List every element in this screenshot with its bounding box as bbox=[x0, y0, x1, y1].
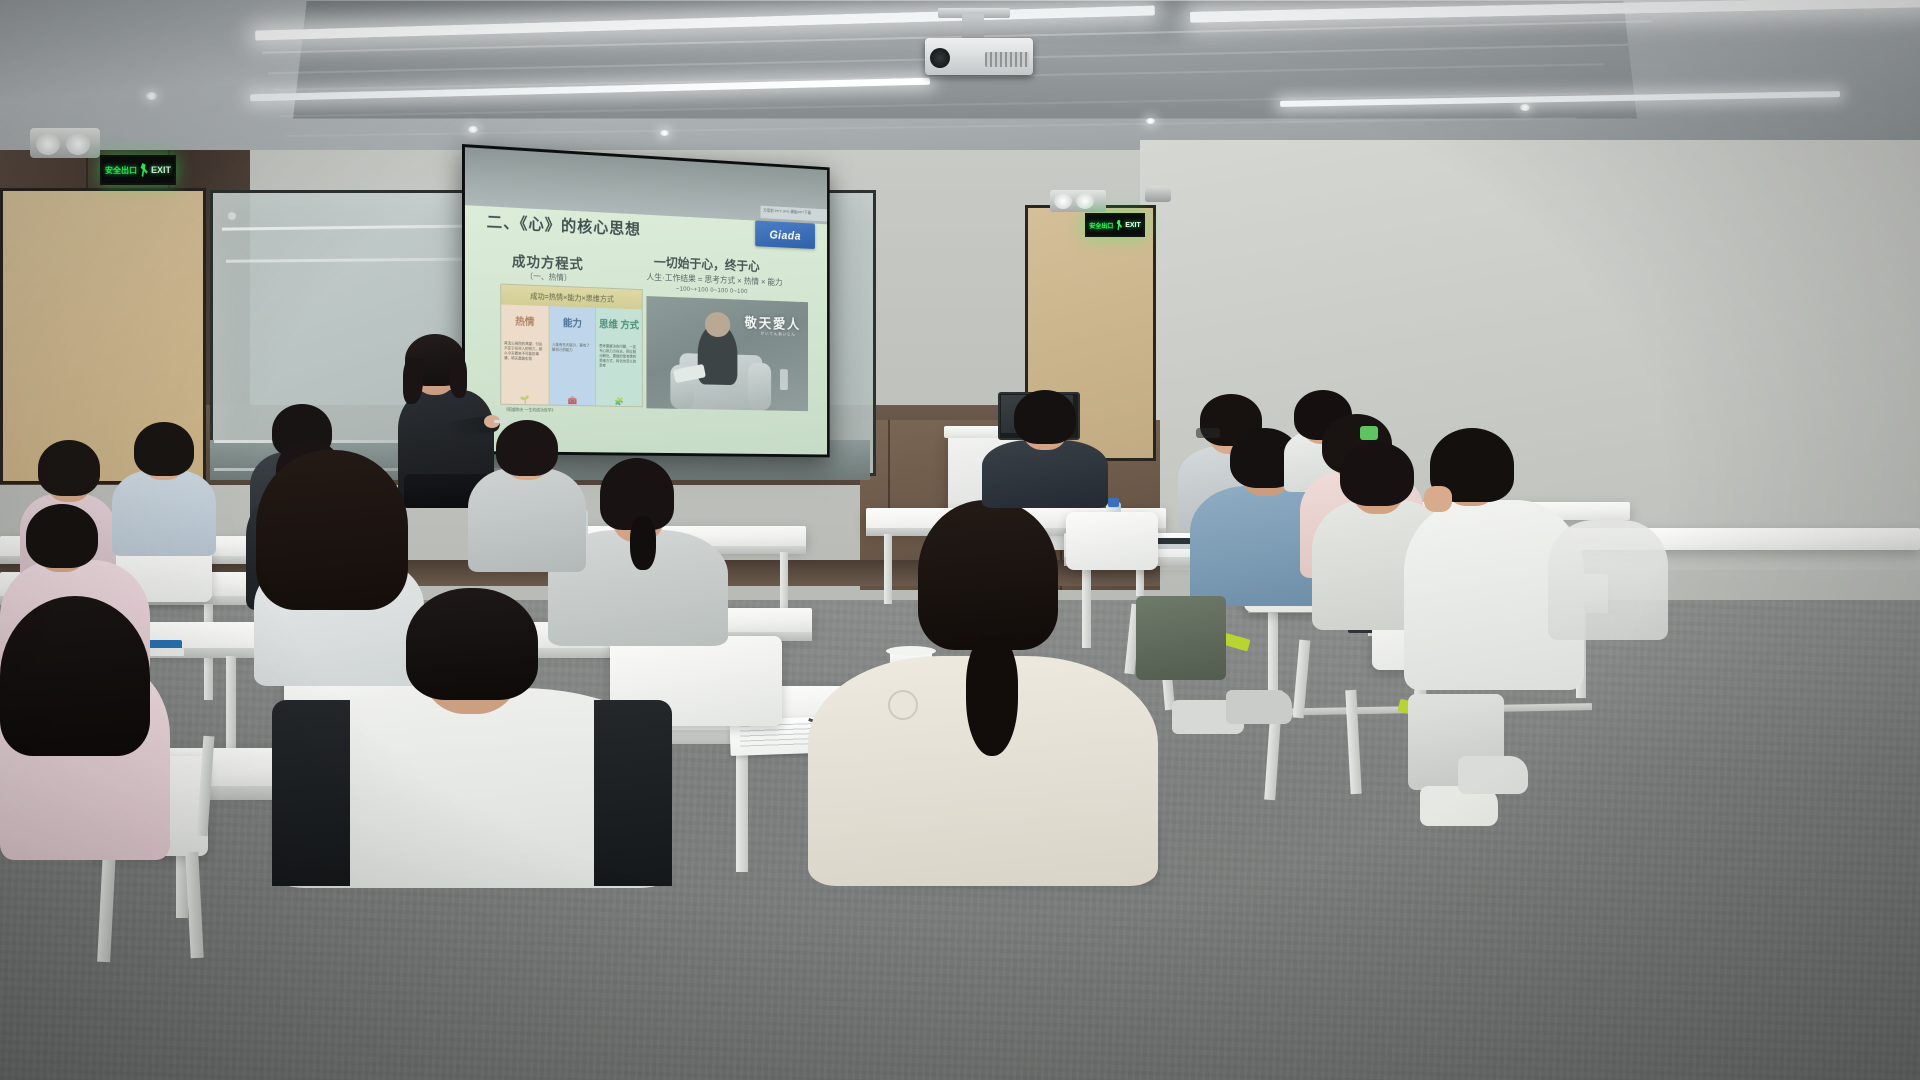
attendee-body bbox=[112, 470, 216, 556]
toolbox-icon: 🧰 bbox=[549, 389, 595, 406]
downlight bbox=[1520, 104, 1530, 111]
shoe bbox=[1458, 756, 1528, 794]
projection-screen: 方案前 PPT-JPG 模板PPT下载 轻松下载页 二、《心》的核心思想 Gia… bbox=[462, 144, 860, 454]
instructor-hair-side bbox=[449, 356, 467, 398]
column-body-text: 人既有先天能力，更有了解自己的能力 bbox=[549, 340, 595, 390]
exit-sign-label-cn: 安全出口 bbox=[105, 165, 137, 176]
emergency-lamp-bulb bbox=[1076, 193, 1094, 209]
cup-lid bbox=[886, 646, 936, 656]
desk-leg bbox=[736, 742, 748, 872]
attendee-hair bbox=[38, 440, 100, 496]
emergency-lamp-bulb bbox=[36, 133, 60, 155]
column-label: 能力 bbox=[549, 306, 595, 341]
sprout-icon: 🌱 bbox=[501, 388, 548, 405]
success-equation-table: 成功=热情×能力×思维方式 热情 再怎么强烈的渴望，付出不亚于任何人的努力，那么… bbox=[500, 284, 642, 408]
attendee-hair bbox=[26, 504, 98, 568]
hair-clip bbox=[1360, 426, 1378, 440]
bottle-cap bbox=[1108, 498, 1119, 507]
attendee-hair bbox=[1340, 442, 1414, 506]
downlight bbox=[468, 126, 478, 133]
giada-brand-logo: Giada bbox=[755, 221, 815, 249]
attendee-hair bbox=[1014, 390, 1076, 444]
attendee-body bbox=[1548, 520, 1668, 640]
attendee-ponytail bbox=[966, 636, 1018, 756]
exit-sign-label-en: EXIT bbox=[151, 165, 171, 175]
screen-frame: 方案前 PPT-JPG 模板PPT下载 轻松下载页 二、《心》的核心思想 Gia… bbox=[462, 144, 830, 457]
attendee-hair bbox=[0, 596, 150, 756]
portrait-head bbox=[705, 312, 730, 338]
attendee-sleeve bbox=[594, 700, 672, 886]
instructor-hair-side bbox=[403, 358, 423, 404]
table-column-passion: 热情 再怎么强烈的渴望，付出不亚于任何人的努力，那么今天看来不可能的事情，明天是… bbox=[501, 304, 549, 404]
projected-slide: 方案前 PPT-JPG 模板PPT下载 轻松下载页 二、《心》的核心思想 Gia… bbox=[465, 147, 827, 454]
exit-sign-left: 安全出口 EXIT bbox=[100, 155, 176, 185]
giada-logo-text: Giada bbox=[769, 227, 801, 242]
column-label: 思维 方式 bbox=[596, 308, 641, 343]
downlight bbox=[146, 92, 157, 100]
desk-leg bbox=[226, 656, 236, 756]
emergency-lamp-bulb bbox=[1054, 193, 1072, 209]
equation-subheading: 〔一、热情〕 bbox=[525, 271, 571, 284]
attendee-hair bbox=[256, 450, 408, 610]
attendee-hand bbox=[1424, 486, 1452, 512]
training-room-photo: 安全出口 EXIT 安全出口 EXIT 方案前 PPT-JPG 模板PPT下载 … bbox=[0, 0, 1920, 1080]
projector-vent bbox=[985, 52, 1029, 67]
attendee-ponytail bbox=[630, 516, 656, 570]
running-man-icon bbox=[140, 163, 148, 177]
attendee-body bbox=[982, 440, 1108, 508]
attendee-hair bbox=[918, 500, 1058, 650]
attendee-sleeve bbox=[272, 700, 350, 886]
exit-sign-right: 安全出口 EXIT bbox=[1085, 213, 1145, 237]
armchair-arm bbox=[748, 363, 771, 411]
chair[interactable] bbox=[1066, 512, 1158, 570]
portrait-motto-subtext: けいてんあいじん bbox=[761, 331, 796, 338]
table-column-ability: 能力 人既有先天能力，更有了解自己的能力 🧰 bbox=[549, 306, 596, 405]
cctv-camera-icon bbox=[1145, 186, 1171, 202]
table-column-mindset: 思维 方式 思考要解决的问题，一定专心致力方向去，把过程分解化。要做的是有情的思… bbox=[596, 308, 641, 406]
downlight bbox=[660, 130, 669, 136]
column-body-text: 再怎么强烈的渴望，付出不亚于任何人的努力，那么今天看来不可能的事情，明天是能实现 bbox=[501, 338, 548, 389]
exit-sign-label-en: EXIT bbox=[1125, 222, 1141, 229]
eyeglasses bbox=[1196, 428, 1220, 438]
slide-footnote: 《稻盛和夫 一生的成功哲学》 bbox=[504, 407, 555, 414]
attendee-trousers bbox=[1136, 596, 1226, 680]
jacket-button bbox=[888, 690, 918, 720]
column-body-text: 思考要解决的问题，一定专心致力方向去，把过程分解化。要做的是有情的思维方式，转化… bbox=[596, 341, 641, 391]
puzzle-icon: 🧩 bbox=[596, 390, 641, 406]
presentation-clicker[interactable] bbox=[494, 420, 508, 423]
downlight bbox=[1146, 118, 1155, 124]
attendee-hair bbox=[134, 422, 194, 476]
column-label: 热情 bbox=[501, 304, 548, 339]
attendee-hair bbox=[496, 420, 558, 476]
exit-sign-label-cn: 安全出口 bbox=[1089, 221, 1113, 230]
emergency-lamp-bulb bbox=[66, 133, 90, 155]
inamori-portrait-photo: 敬天愛人 けいてんあいじん bbox=[646, 296, 808, 411]
water-bottle bbox=[780, 369, 788, 390]
board-mount-stud bbox=[228, 212, 236, 220]
desk-leg bbox=[1082, 564, 1091, 648]
shoe bbox=[1226, 690, 1292, 724]
equation-table-columns: 热情 再怎么强烈的渴望，付出不亚于任何人的努力，那么今天看来不可能的事情，明天是… bbox=[501, 304, 642, 406]
running-man-icon bbox=[1116, 220, 1122, 231]
attendee-body bbox=[468, 468, 586, 572]
projector-lens bbox=[930, 48, 950, 68]
desk-leg bbox=[884, 534, 892, 604]
attendee-hair bbox=[406, 588, 538, 700]
